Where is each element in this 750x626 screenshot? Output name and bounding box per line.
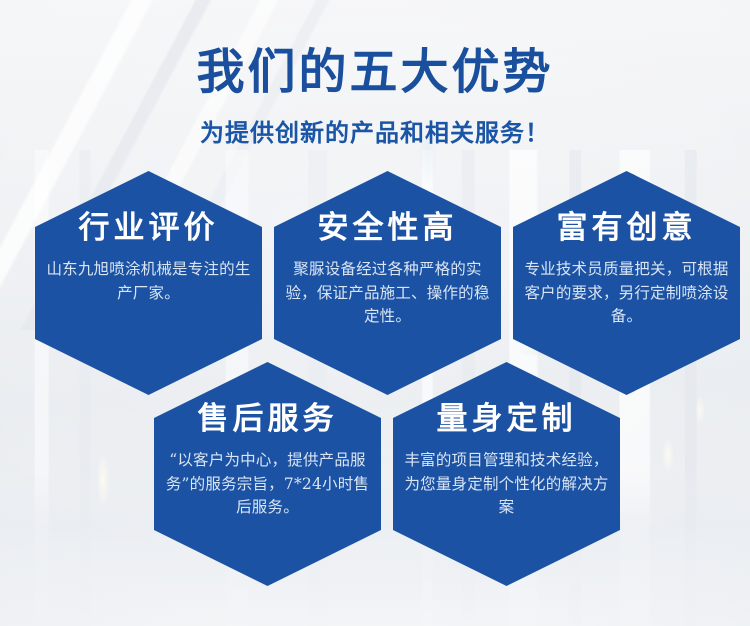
- advantage-content-4: 售后服务 “以客户为中心，提供产品服务”的服务宗旨，7*24小时售后服务。: [154, 404, 381, 520]
- advantage-content-5: 量身定制 丰富的项目管理和技术经验，为您量身定制个性化的解决方案: [393, 404, 620, 520]
- advantage-title-1: 行业评价: [45, 213, 252, 244]
- advantage-hexagon-2: 安全性高 聚脲设备经过各种严格的实验，保证产品施工、操作的稳定性。: [274, 171, 501, 395]
- advantage-title-3: 富有创意: [523, 213, 730, 244]
- advantage-title-5: 量身定制: [403, 404, 610, 435]
- advantage-hexagon-4: 售后服务 “以客户为中心，提供产品服务”的服务宗旨，7*24小时售后服务。: [154, 362, 381, 586]
- advantage-body-5: 丰富的项目管理和技术经验，为您量身定制个性化的解决方案: [403, 449, 610, 520]
- advantage-content-2: 安全性高 聚脲设备经过各种严格的实验，保证产品施工、操作的稳定性。: [274, 213, 501, 329]
- advantage-hexagon-3: 富有创意 专业技术员质量把关，可根据客户的要求，另行定制喷涂设备。: [513, 171, 740, 395]
- page-subtitle: 为提供创新的产品和相关服务！: [0, 99, 750, 148]
- promo-poster: 我们的五大优势 为提供创新的产品和相关服务！ 行业评价 山东九旭喷涂机械是专注的…: [0, 0, 750, 626]
- advantage-body-1: 山东九旭喷涂机械是专注的生产厂家。: [45, 258, 252, 305]
- advantage-body-3: 专业技术员质量把关，可根据客户的要求，另行定制喷涂设备。: [523, 258, 730, 329]
- advantage-content-1: 行业评价 山东九旭喷涂机械是专注的生产厂家。: [35, 213, 262, 305]
- page-title: 我们的五大优势: [0, 0, 750, 99]
- advantage-body-4: “以客户为中心，提供产品服务”的服务宗旨，7*24小时售后服务。: [164, 449, 371, 520]
- advantage-hexagon-1: 行业评价 山东九旭喷涂机械是专注的生产厂家。: [35, 171, 262, 395]
- advantage-title-2: 安全性高: [284, 213, 491, 244]
- advantage-body-2: 聚脲设备经过各种严格的实验，保证产品施工、操作的稳定性。: [284, 258, 491, 329]
- advantage-hexagon-5: 量身定制 丰富的项目管理和技术经验，为您量身定制个性化的解决方案: [393, 362, 620, 586]
- advantage-title-4: 售后服务: [164, 404, 371, 435]
- advantage-content-3: 富有创意 专业技术员质量把关，可根据客户的要求，另行定制喷涂设备。: [513, 213, 740, 329]
- poster-heading-block: 我们的五大优势 为提供创新的产品和相关服务！: [0, 0, 750, 148]
